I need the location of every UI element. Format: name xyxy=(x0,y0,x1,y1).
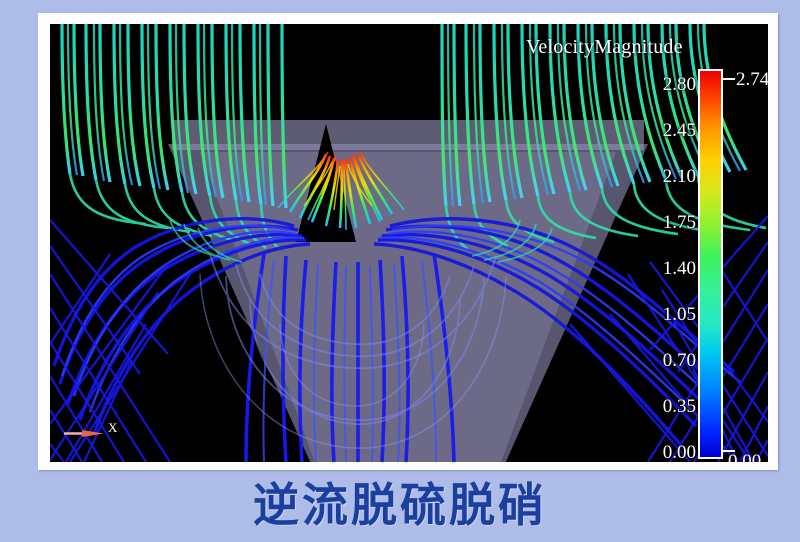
x-axis-arrow-icon xyxy=(64,430,108,437)
colorbar-tick-labels: 2.80 2.45 2.10 1.75 1.40 1.05 0.70 0.35 … xyxy=(610,69,696,462)
orientation-axes-widget[interactable]: X xyxy=(64,420,120,446)
colorbar-tick-8: 0.00 xyxy=(610,442,696,462)
image-frame: VelocityMagnitude 2.80 2.45 2.10 1.75 1.… xyxy=(38,13,778,470)
x-axis-label: X xyxy=(108,420,117,436)
colorbar-min-label: 0.00 xyxy=(728,451,761,462)
render-viewport[interactable]: VelocityMagnitude 2.80 2.45 2.10 1.75 1.… xyxy=(50,24,768,462)
colorbar-tick-7: 0.35 xyxy=(610,396,696,418)
colorbar-tick-1: 2.45 xyxy=(610,120,696,142)
screenshot-root: VelocityMagnitude 2.80 2.45 2.10 1.75 1.… xyxy=(0,0,800,542)
colorbar-tick-2: 2.10 xyxy=(610,166,696,188)
colorbar-tick-0: 2.80 xyxy=(610,74,696,96)
colorbar-tick-6: 0.70 xyxy=(610,350,696,372)
colorbar-tick-3: 1.75 xyxy=(610,212,696,234)
figure-caption: 逆流脱硫脱硝 xyxy=(0,474,800,536)
colorbar-tick-4: 1.40 xyxy=(610,258,696,280)
colorbar-tick-5: 1.05 xyxy=(610,304,696,326)
colorbar-title: VelocityMagnitude xyxy=(526,36,683,59)
colorbar-max-label: 2.74 xyxy=(736,69,768,91)
colorbar[interactable]: 2.74 0.00 xyxy=(698,69,760,462)
colorbar-max-tick xyxy=(721,78,735,80)
colorbar-gradient[interactable] xyxy=(698,69,723,459)
cfd-scene: VelocityMagnitude 2.80 2.45 2.10 1.75 1.… xyxy=(50,24,768,462)
